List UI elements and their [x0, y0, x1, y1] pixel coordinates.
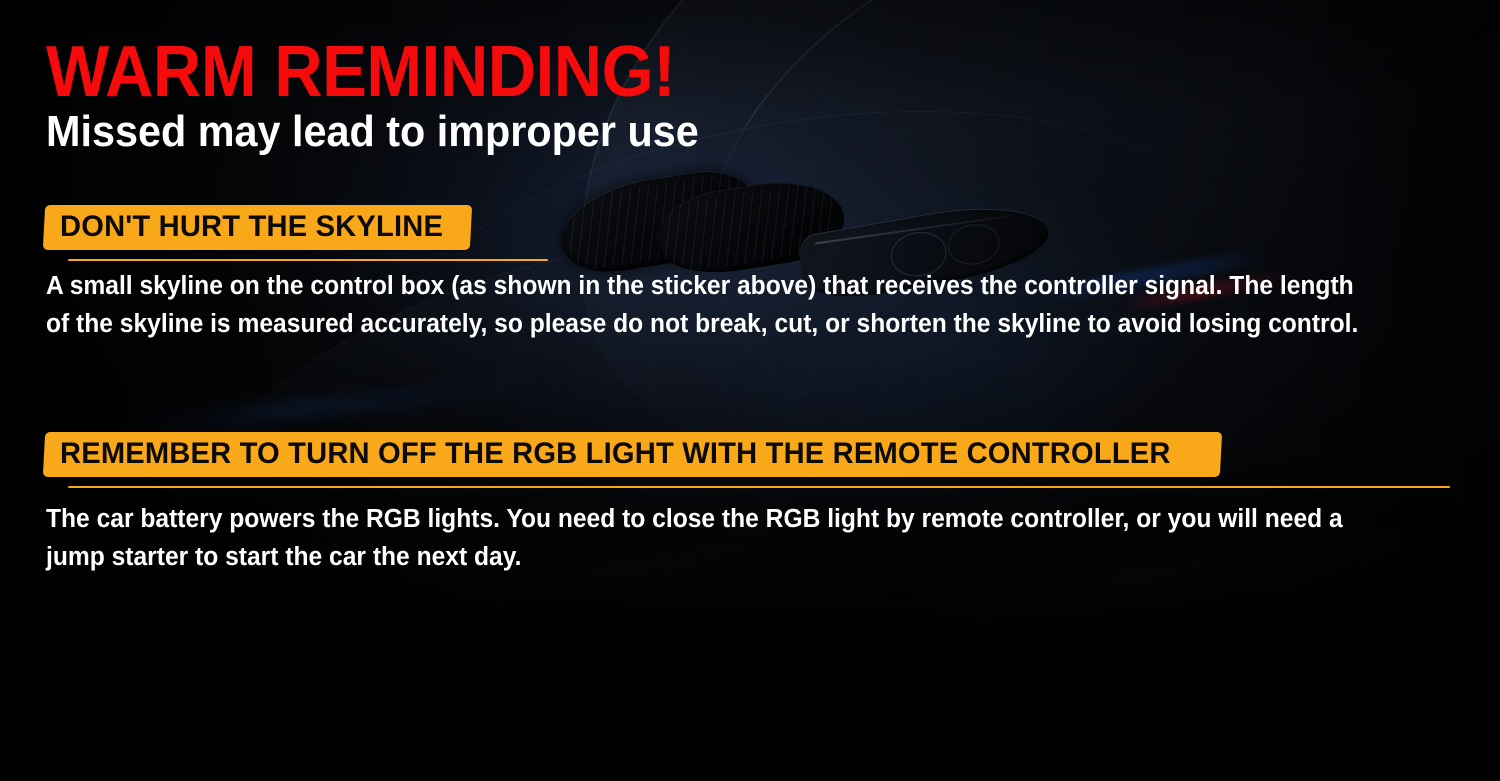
section-1-badge: DON'T HURT THE SKYLINE: [43, 205, 472, 250]
section-2-badge: REMEMBER TO TURN OFF THE RGB LIGHT WITH …: [43, 432, 1222, 477]
reminder-section-skyline: DON'T HURT THE SKYLINE A small skyline o…: [0, 205, 1500, 261]
banner-content: WARM REMINDING! Missed may lead to impro…: [0, 0, 1500, 781]
section-2-badge-wrapper: REMEMBER TO TURN OFF THE RGB LIGHT WITH …: [44, 432, 1500, 488]
warm-reminding-banner: WARM REMINDING! Missed may lead to impro…: [0, 0, 1500, 781]
page-title: WARM REMINDING!: [46, 33, 675, 111]
section-1-badge-wrapper: DON'T HURT THE SKYLINE: [44, 205, 1500, 261]
section-2-badge-label: REMEMBER TO TURN OFF THE RGB LIGHT WITH …: [60, 439, 1171, 469]
page-subtitle: Missed may lead to improper use: [46, 106, 699, 158]
section-1-badge-label: DON'T HURT THE SKYLINE: [60, 212, 443, 242]
section-1-underline: [68, 259, 548, 261]
section-2-underline: [68, 486, 1450, 488]
section-2-body-text: The car battery powers the RGB lights. Y…: [46, 500, 1378, 576]
reminder-section-rgb-light: REMEMBER TO TURN OFF THE RGB LIGHT WITH …: [0, 432, 1500, 488]
section-1-body-text: A small skyline on the control box (as s…: [46, 267, 1378, 343]
